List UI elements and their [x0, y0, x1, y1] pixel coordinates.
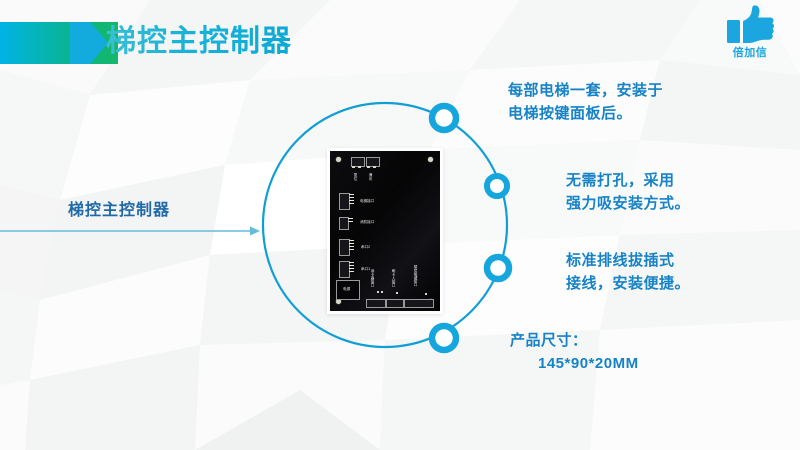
- bullet-1-line-2: 电梯按键面板后。: [508, 102, 663, 125]
- pcb-pad: [349, 194, 354, 195]
- pcb-silk-l4: 串口1: [361, 267, 370, 271]
- product-photo: 复位 通讯 电梯接口 消防接口 串口2: [327, 148, 443, 314]
- logo-text: 倍加信: [714, 47, 786, 59]
- bullet-1-line-1: 每部电梯一套，安装于: [508, 79, 663, 102]
- pcb-pad: [349, 243, 354, 244]
- thumbs-up-icon: [725, 4, 775, 46]
- pcb-connector-3: [339, 239, 350, 256]
- pcb-pad: [349, 240, 354, 241]
- pcb-pad: [349, 268, 354, 269]
- pcb-pad: [349, 262, 354, 263]
- pcb-pad: [348, 218, 353, 219]
- pcb-pad: [349, 265, 354, 266]
- brand-logo: 倍加信: [714, 4, 786, 64]
- pcb-part: [358, 166, 361, 168]
- ring-marker-1: [432, 106, 456, 130]
- mounting-hole: [428, 157, 433, 162]
- pointer-arrow-icon: [0, 222, 262, 240]
- bullet-3: 标准排线拔插式 接线，安装便捷。: [566, 249, 690, 295]
- pcb-header-1: [366, 299, 386, 308]
- header-chevron-icon: [70, 22, 108, 64]
- bullet-1: 每部电梯一套，安装于 电梯按键面板后。: [508, 79, 663, 125]
- bullet-4-line-2: 145*90*20MM: [510, 352, 639, 375]
- ring-marker-4: [432, 326, 456, 350]
- bullet-2-line-2: 强力吸安装方式。: [566, 192, 690, 215]
- pcb-pad: [349, 249, 354, 250]
- pcb-board: 复位 通讯 电梯接口 消防接口 串口2: [330, 151, 440, 311]
- pcb-part: [377, 291, 379, 293]
- pcb-connector-4: [339, 261, 350, 278]
- ring-marker-2: [487, 176, 507, 196]
- pcb-pad: [348, 221, 353, 222]
- pcb-pad: [349, 200, 354, 201]
- pcb-part: [352, 166, 355, 168]
- ring-marker-3: [487, 257, 509, 279]
- pcb-silk-l5: 电源: [343, 287, 350, 291]
- bullet-3-line-2: 接线，安装便捷。: [566, 272, 690, 295]
- pcb-silk-top1: 复位: [354, 173, 358, 180]
- pcb-silk-v2: 刷卡人接口: [392, 269, 396, 287]
- product-label: 梯控主控制器: [68, 196, 170, 220]
- bullet-2: 无需打孔，采用 强力吸安装方式。: [566, 169, 690, 215]
- page-title: 梯控主控制器: [106, 20, 292, 64]
- pcb-silk-l1: 电梯接口: [360, 199, 374, 203]
- bullet-2-line-1: 无需打孔，采用: [566, 169, 690, 192]
- slide-canvas: 梯控主控制器 倍加信 梯控主控制器: [0, 0, 800, 450]
- pcb-header-3: [404, 299, 434, 308]
- pcb-pad: [349, 203, 354, 204]
- bullet-3-line-1: 标准排线拔插式: [566, 249, 690, 272]
- pcb-pad: [349, 197, 354, 198]
- pcb-header-2: [386, 299, 404, 308]
- pcb-silk-top2: 通讯: [369, 173, 373, 180]
- pcb-silk-v3: 楼层按键接口: [414, 265, 418, 287]
- bullet-4-line-1: 产品尺寸：: [510, 329, 639, 352]
- pcb-pad: [349, 246, 354, 247]
- pcb-part: [367, 166, 370, 168]
- pcb-pad: [349, 271, 354, 272]
- pcb-silk-v1: 读卡器接口: [371, 269, 375, 287]
- bullet-4: 产品尺寸： 145*90*20MM: [510, 329, 639, 375]
- pcb-silk-l3: 串口2: [361, 245, 370, 249]
- pcb-part: [425, 293, 427, 295]
- mounting-hole: [336, 157, 341, 162]
- pcb-part: [373, 166, 376, 168]
- pcb-silk-l2: 消防接口: [360, 220, 374, 224]
- pcb-connector-1: [339, 193, 350, 210]
- pcb-part: [381, 291, 383, 293]
- pcb-part: [396, 292, 398, 294]
